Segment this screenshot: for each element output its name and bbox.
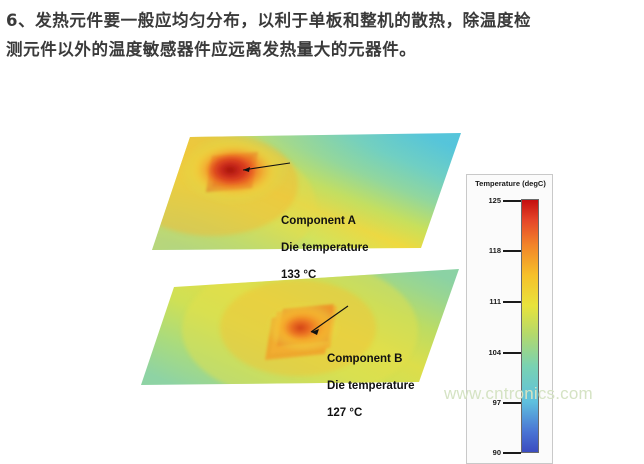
temperature-legend: Temperature (degC) 125 118 111 104 97 90 xyxy=(466,174,553,464)
thermal-simulation-figure: Component A Die temperature 133 °C Compo… xyxy=(0,66,644,409)
legend-label-90: 90 xyxy=(469,448,501,457)
legend-tick-mark xyxy=(503,200,521,202)
colorbar-gradient xyxy=(521,199,539,453)
legend-tick-mark xyxy=(503,452,521,454)
component-a-value: 133 °C xyxy=(281,265,369,285)
legend-tick-mark xyxy=(503,301,521,303)
component-a-metric-label: Die temperature xyxy=(281,238,369,258)
legend-label-118: 118 xyxy=(469,246,501,255)
component-b-name: Component B xyxy=(327,349,415,369)
component-b-value: 127 °C xyxy=(327,403,415,423)
caption-block: 6、发热元件要一般应均匀分布，以利于单板和整机的散热，除温度检 测元件以外的温度… xyxy=(0,0,644,64)
legend-label-111: 111 xyxy=(469,297,501,306)
legend-label-104: 104 xyxy=(469,348,501,357)
annotation-component-b: Component B Die temperature 127 °C xyxy=(327,349,415,430)
legend-title: Temperature (degC) xyxy=(467,179,554,188)
legend-tick-mark xyxy=(503,250,521,252)
legend-label-125: 125 xyxy=(469,196,501,205)
annotation-component-a: Component A Die temperature 133 °C xyxy=(281,211,369,292)
caption-line-1: 6、发热元件要一般应均匀分布，以利于单板和整机的散热，除温度检 xyxy=(6,6,638,35)
caption-line-2: 测元件以外的温度敏感器件应远离发热量大的元器件。 xyxy=(6,35,638,64)
thermal-board-component-a xyxy=(76,132,461,276)
legend-tick-mark xyxy=(503,352,521,354)
component-b-metric-label: Die temperature xyxy=(327,376,415,396)
site-watermark: www.cntronics.com xyxy=(444,384,593,404)
component-a-name: Component A xyxy=(281,211,369,231)
